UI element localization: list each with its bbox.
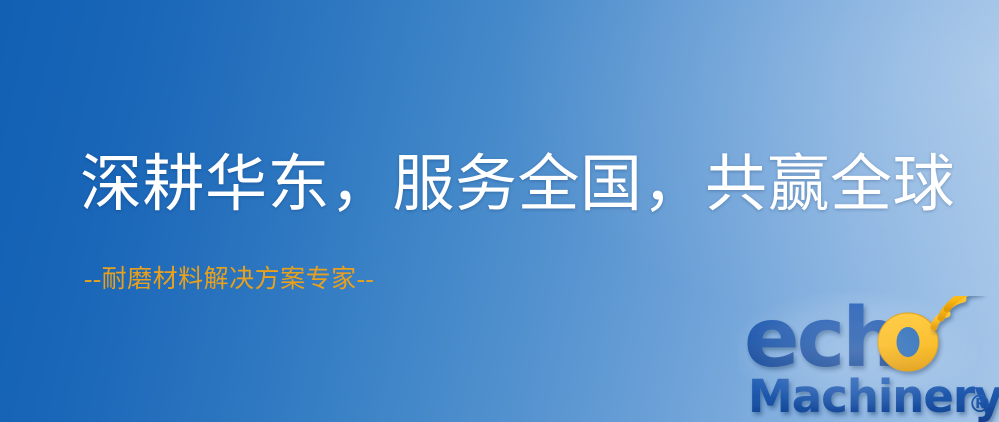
- banner-headline: 深耕华东，服务全国，共赢全球: [80, 152, 955, 218]
- hero-banner: 深耕华东，服务全国，共赢全球 --耐磨材料解决方案专家--: [0, 0, 999, 422]
- svg-text:Machinery: Machinery: [748, 370, 999, 422]
- echo-wave-arcs: [934, 296, 979, 327]
- registered-trademark-symbol: ®: [968, 390, 992, 418]
- logo-wordmark-o: [878, 313, 938, 371]
- banner-subtitle: --耐磨材料解决方案专家--: [84, 265, 374, 295]
- logo-artwork: ech Machinery ®: [744, 296, 999, 422]
- logo-tagline: Machinery ®: [748, 370, 999, 422]
- echo-machinery-logo[interactable]: ech Machinery ®: [744, 296, 999, 422]
